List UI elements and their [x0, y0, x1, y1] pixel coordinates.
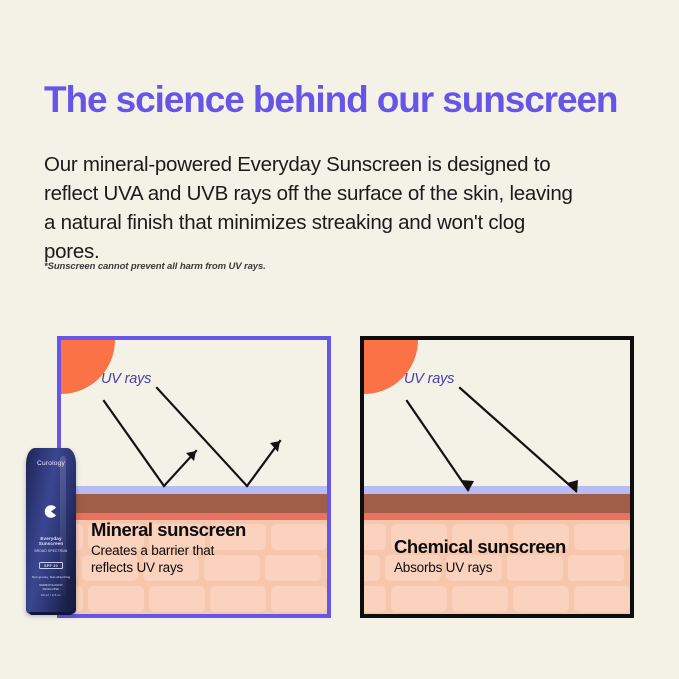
diagram-panel-chemical: UV rays — [360, 336, 634, 618]
tube-spectrum: BROAD SPECTRUM — [26, 549, 76, 554]
diagram-panel-mineral: UV rays — [57, 336, 331, 618]
tube-size: 60 ml / 2 fl oz — [26, 593, 76, 597]
panel-inner-chemical: UV rays — [364, 340, 630, 614]
panel-inner-mineral: UV rays — [61, 340, 327, 614]
tube-claim: Non-greasy, fast-absorbing — [26, 575, 76, 580]
tube-seal: DERMATOLOGIST DEVELOPED — [26, 584, 76, 591]
page-title: The science behind our sunscreen — [44, 78, 644, 122]
panel-caption-chemical: Chemical sunscreen Absorbs UV rays — [394, 536, 619, 576]
infographic-page: The science behind our sunscreen Our min… — [0, 0, 679, 679]
curology-logo-icon — [44, 504, 59, 519]
product-tube: Curology Everyday Sunscreen BROAD SPECTR… — [26, 448, 76, 614]
tube-label: Everyday Sunscreen BROAD SPECTRUM SPF 30… — [26, 536, 76, 592]
tube-product-line2: Sunscreen — [39, 541, 63, 546]
tube-product-line1: Everyday — [40, 536, 61, 541]
panel-subtitle-chemical: Absorbs UV rays — [394, 559, 619, 576]
tube-seal-line2: DEVELOPED — [43, 588, 60, 591]
body-paragraph: Our mineral-powered Everyday Sunscreen i… — [44, 150, 584, 266]
tube-brand-name: Curology — [26, 460, 76, 467]
panel-subtitle-line2: reflects UV rays — [91, 560, 183, 575]
footnote-disclaimer: *Sunscreen cannot prevent all harm from … — [44, 260, 464, 273]
panel-title-chemical: Chemical sunscreen — [394, 536, 619, 558]
panel-subtitle-mineral: Creates a barrier that reflects UV rays — [91, 542, 316, 576]
panel-title-mineral: Mineral sunscreen — [91, 519, 316, 541]
tube-cap — [29, 612, 73, 615]
tube-seal-line1: DERMATOLOGIST — [39, 584, 63, 587]
panel-caption-mineral: Mineral sunscreen Creates a barrier that… — [91, 519, 316, 576]
panel-subtitle-line1: Creates a barrier that — [91, 543, 214, 558]
tube-spf-badge: SPF 30 — [39, 562, 63, 569]
